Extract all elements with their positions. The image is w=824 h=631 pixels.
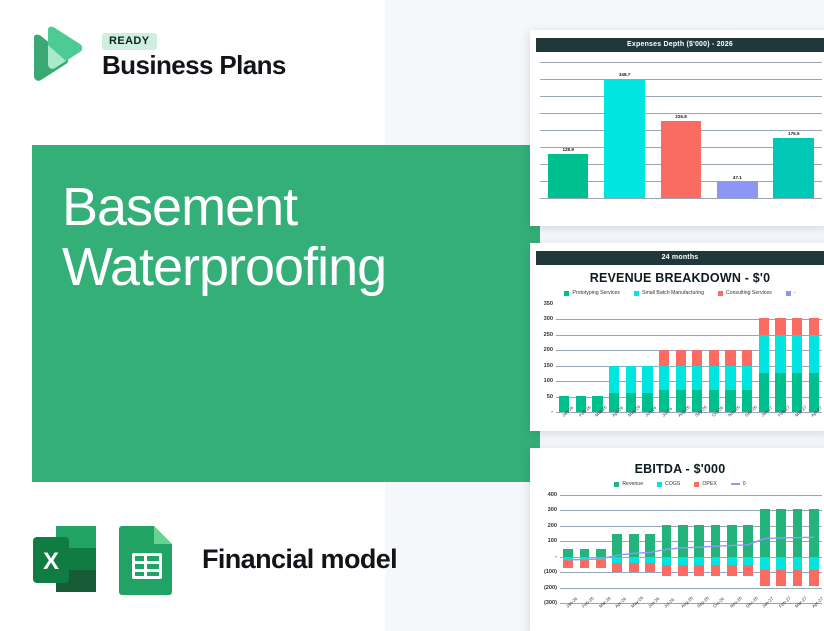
y-axis-tick-label: 50 <box>547 394 553 400</box>
financial-model-label: Financial model <box>202 544 397 575</box>
bar-segment <box>659 350 669 366</box>
legend-item: 0 <box>731 481 746 487</box>
bar-segment <box>692 366 702 391</box>
bar-segment <box>692 350 702 366</box>
legend-item: Small Batch Manufacturing <box>634 290 704 296</box>
bar-segment <box>809 318 819 335</box>
legend-label: Consulting Services <box>726 290 772 296</box>
legend-item: Consulting Services <box>718 290 772 296</box>
bar-segment <box>742 366 752 391</box>
legend-item: COGS <box>657 481 680 487</box>
legend-label: COGS <box>665 481 680 487</box>
bar-value-label: 128.9 <box>562 147 574 152</box>
legend-label: - <box>794 290 796 296</box>
legend-item: Revenue <box>614 481 643 487</box>
y-axis-tick-label: - <box>555 554 557 560</box>
legend-swatch <box>694 482 699 487</box>
footer-block: X Financial model <box>30 523 397 595</box>
page-title: Basement Waterproofing <box>62 177 522 298</box>
y-axis-tick-label: 250 <box>544 332 553 338</box>
legend-label: OPEX <box>702 481 716 487</box>
y-axis-tick-label: 100 <box>544 378 553 384</box>
y-axis-tick-label: 150 <box>544 363 553 369</box>
legend-item: OPEX <box>694 481 716 487</box>
y-axis-tick-label: 300 <box>548 507 557 513</box>
legend-swatch <box>634 291 639 296</box>
bar-segment <box>792 335 802 374</box>
bar-value-label: 226.8 <box>675 114 687 119</box>
brand-block: READY Business Plans <box>26 24 286 86</box>
legend-label: Prototyping Services <box>572 290 620 296</box>
gridline <box>540 198 822 199</box>
bar-segment <box>609 366 619 393</box>
bar-segment <box>642 366 652 393</box>
google-sheets-icon <box>116 523 180 595</box>
bar <box>661 121 702 198</box>
y-axis-tick-label: 350 <box>544 301 553 307</box>
slide-canvas: READY Business Plans Basement Waterproof… <box>0 0 824 631</box>
legend-item: Prototyping Services <box>564 290 620 296</box>
y-axis-tick-label: (300) <box>544 600 557 606</box>
chart-card-ebitda[interactable]: EBITDA - $'000 RevenueCOGSOPEX0 40030020… <box>530 448 824 631</box>
legend-label: 0 <box>743 481 746 487</box>
bar-segment <box>709 366 719 391</box>
y-axis-tick-label: 400 <box>548 492 557 498</box>
brand-name: Business Plans <box>102 52 286 79</box>
svg-text:X: X <box>43 548 59 575</box>
chart2-banner: 24 months <box>536 251 824 265</box>
legend-swatch <box>614 482 619 487</box>
brand-text: READY Business Plans <box>102 33 286 79</box>
y-axis-tick-label: (100) <box>544 569 557 575</box>
y-axis-tick-label: (200) <box>544 585 557 591</box>
bar-segment <box>709 350 719 366</box>
chart2-title: REVENUE BREAKDOWN - $'0 <box>530 271 824 285</box>
chart-card-expenses[interactable]: Expenses Depth ($'000) - 2026 128.9348.7… <box>530 30 824 226</box>
legend-label: Small Batch Manufacturing <box>642 290 704 296</box>
gridline <box>540 62 822 63</box>
bar-segment <box>742 350 752 366</box>
chart1-banner: Expenses Depth ($'000) - 2026 <box>536 38 824 52</box>
y-axis-tick-label: 200 <box>544 347 553 353</box>
bar-segment <box>725 366 735 391</box>
chart1-plot: 128.9348.7226.847.1176.5 <box>540 62 822 198</box>
legend-item: - <box>786 290 796 296</box>
y-axis-tick-label: 200 <box>548 523 557 529</box>
bar-segment <box>775 318 785 335</box>
ready-badge: READY <box>102 33 157 50</box>
chart3-legend: RevenueCOGSOPEX0 <box>530 481 824 487</box>
zero-trend-line <box>560 495 822 603</box>
bar <box>773 138 814 198</box>
bar-segment <box>809 335 819 374</box>
chart3-plot: 400300200100-(100)(200)(300)Jan-26Feb-26… <box>560 495 822 603</box>
legend-swatch <box>786 291 791 296</box>
chart-card-revenue-breakdown[interactable]: 24 months REVENUE BREAKDOWN - $'0 Protot… <box>530 243 824 431</box>
bar <box>604 79 645 198</box>
microsoft-excel-icon: X <box>30 523 100 595</box>
y-axis-tick-label: 300 <box>544 316 553 322</box>
chart2-legend: Prototyping ServicesSmall Batch Manufact… <box>530 290 824 296</box>
legend-label: Revenue <box>622 481 643 487</box>
gridline <box>540 79 822 80</box>
bar-segment <box>759 318 769 335</box>
bar-segment <box>725 350 735 366</box>
y-axis-tick-label: - <box>551 409 553 415</box>
bar-segment <box>676 350 686 366</box>
legend-swatch <box>731 483 740 485</box>
bar-value-label: 348.7 <box>619 72 631 77</box>
bar-segment <box>676 366 686 391</box>
bar-value-label: 47.1 <box>733 175 742 180</box>
legend-swatch <box>564 291 569 296</box>
hero-band: Basement Waterproofing <box>32 145 540 482</box>
bar-segment <box>659 366 669 391</box>
play-logo-icon <box>26 24 88 86</box>
legend-swatch <box>718 291 723 296</box>
gridline <box>540 96 822 97</box>
bar-value-label: 176.5 <box>788 131 800 136</box>
y-axis-tick-label: 100 <box>548 538 557 544</box>
bar <box>548 154 589 198</box>
legend-swatch <box>657 482 662 487</box>
bar-segment <box>626 366 636 393</box>
bar <box>717 182 758 198</box>
bar-segment <box>792 318 802 335</box>
bar-segment <box>759 335 769 374</box>
bar-segment <box>775 335 785 374</box>
chart2-plot: 35030025020015010050-Jan-26Feb-26Mar-26A… <box>556 304 822 412</box>
chart3-title: EBITDA - $'000 <box>530 462 824 476</box>
